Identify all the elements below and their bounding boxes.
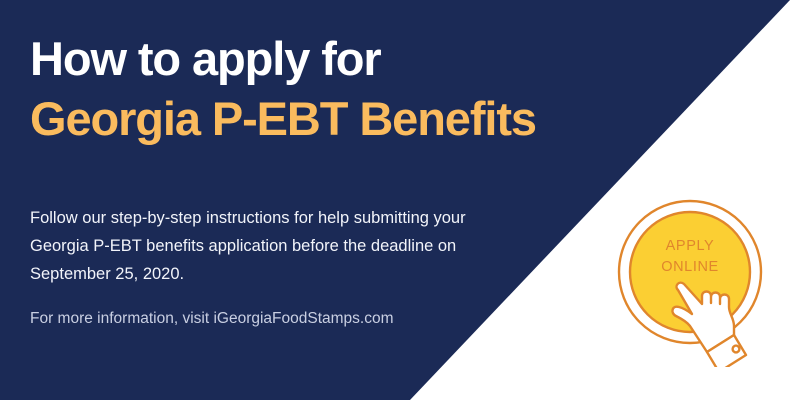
badge-label-line-2: ONLINE	[661, 259, 719, 275]
p-ebt-promo-banner: How to apply for Georgia P-EBT Benefits …	[0, 0, 800, 400]
apply-online-badge[interactable]: APPLY ONLINE	[612, 192, 782, 367]
badge-label-line-1: APPLY	[666, 238, 715, 254]
headline-block: How to apply for Georgia P-EBT Benefits	[30, 34, 670, 145]
footer-website-line: For more information, visit iGeorgiaFood…	[30, 310, 394, 328]
body-paragraph: Follow our step-by-step instructions for…	[30, 204, 500, 288]
headline-line-1: How to apply for	[30, 34, 670, 85]
headline-line-2: Georgia P-EBT Benefits	[30, 94, 670, 145]
